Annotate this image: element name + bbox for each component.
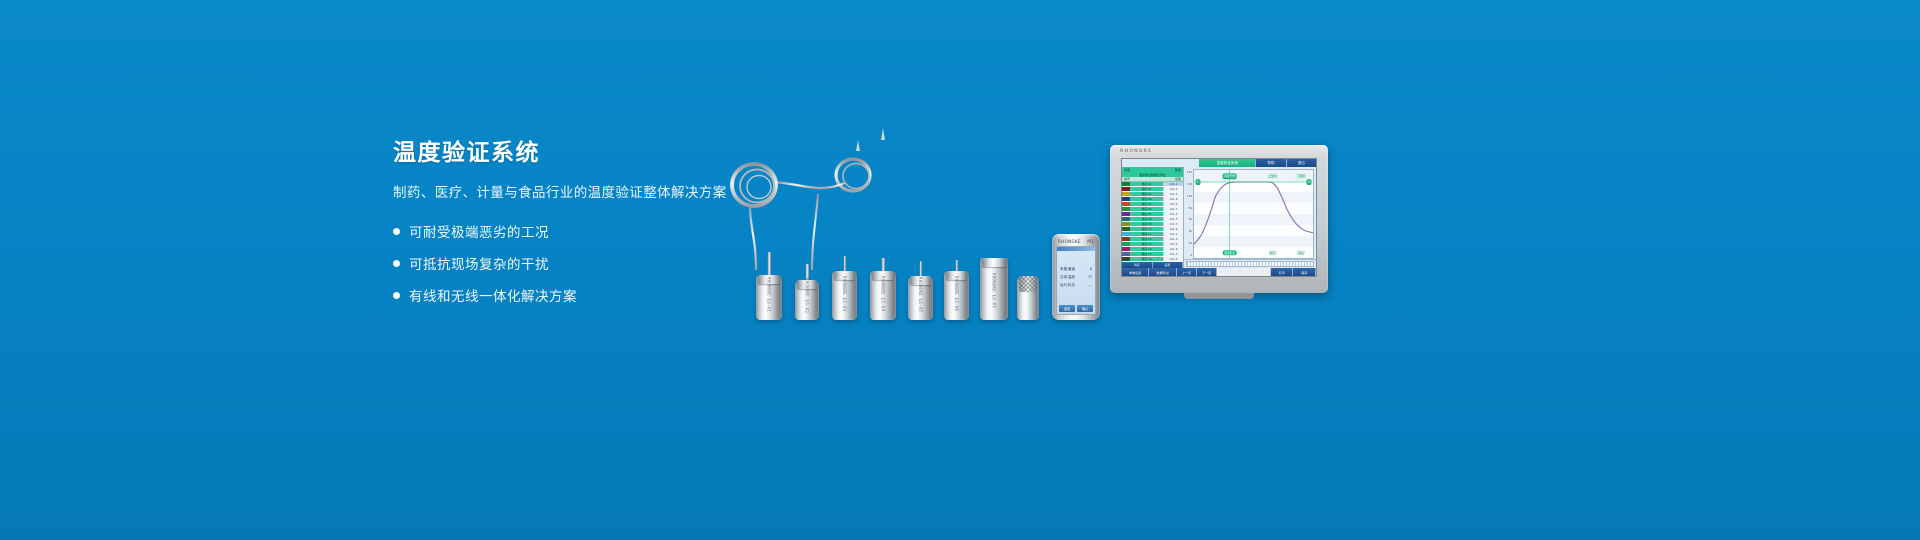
channel-value-cell: 121.6 xyxy=(1163,227,1183,231)
footer-button-3[interactable]: 下一页 xyxy=(1197,268,1217,276)
y-axis-tick: 100 xyxy=(1187,195,1192,198)
channel-color-swatch xyxy=(1122,187,1130,191)
probe-stem xyxy=(768,252,771,276)
col-header-id: 编号 xyxy=(1124,177,1130,181)
channel-value-cell: 121.7 xyxy=(1163,207,1183,211)
feature-label: 有线和无线一体化解决方案 xyxy=(409,285,577,305)
channel-value-cell: 121.6 xyxy=(1163,247,1183,251)
channel-color-swatch xyxy=(1122,202,1130,206)
handheld-buttons: 返回 确认 xyxy=(1057,303,1095,314)
readout-key: 当前温度 xyxy=(1060,275,1075,280)
channel-color-swatch xyxy=(1122,252,1130,256)
data-logger: RHONGKE LG-03 xyxy=(832,272,857,320)
temperature-curve-plot[interactable]: 保温开始 保温结束 A B 上限值 下限值 起点 终点 xyxy=(1193,169,1314,259)
data-logger: RHONGKE LG-05 xyxy=(908,278,933,320)
footer-button-0[interactable]: 参数设置 xyxy=(1122,268,1149,276)
monitor-stand xyxy=(1184,293,1254,299)
logger-cap xyxy=(982,258,1006,267)
y-axis-tick: 80 xyxy=(1189,207,1192,210)
logger-label: RHONGKE LG-04 xyxy=(881,276,886,311)
table-header-left: 通道 xyxy=(1124,168,1130,172)
handheld-reader[interactable]: RHONGKE M1 采集通道 8 当前温度 ℃ xyxy=(1052,234,1100,320)
readout-row: 运行状态 — xyxy=(1060,283,1092,288)
bullet-dot-icon xyxy=(393,292,400,299)
channel-value-cell: 121.3 xyxy=(1163,222,1183,226)
readout-row: 采集通道 8 xyxy=(1060,267,1092,272)
app-tabbar: 温度验证系统 帮助 退出 xyxy=(1122,159,1316,167)
footer-button-5[interactable]: 打印 xyxy=(1271,268,1294,276)
channel-value-cell: 121.2 xyxy=(1163,202,1183,206)
feature-label: 可耐受极端恶劣的工况 xyxy=(409,221,549,241)
channel-color-swatch xyxy=(1122,242,1130,246)
logger-label: RHONGKE LG-06 xyxy=(954,276,959,311)
channel-color-swatch xyxy=(1122,257,1130,261)
chart-scrollbar[interactable] xyxy=(1184,259,1316,268)
tab-temperature-validation[interactable]: 温度验证系统 xyxy=(1199,159,1255,167)
table-body: 通道 01121.4通道 02121.5通道 03121.3通道 04121.6… xyxy=(1122,182,1183,262)
channel-name-cell: 通道 11 xyxy=(1130,232,1163,236)
chart-y-axis: 140120100806040200 xyxy=(1184,169,1193,259)
data-logger: RHONGKE LG-07 xyxy=(980,258,1008,320)
channel-color-swatch xyxy=(1122,212,1130,216)
data-logger-mesh xyxy=(1017,278,1039,320)
data-logger: RHONGKE LG-02 xyxy=(795,282,819,320)
channel-name-cell: 通道 12 xyxy=(1130,237,1163,241)
channel-color-swatch xyxy=(1122,247,1130,251)
footer-spacer xyxy=(1217,268,1271,276)
table-header-right: 数值 xyxy=(1175,168,1181,172)
channel-name-cell: 通道 01 xyxy=(1130,182,1163,186)
monitor-display: RHONGKE 温度验证系统 帮助 退出 通道 数值 xyxy=(1110,145,1328,293)
marker-limit-b[interactable]: B xyxy=(1307,179,1312,185)
brand-label: RHONGKE xyxy=(1058,239,1081,244)
readout-value: — xyxy=(1088,283,1092,287)
probe-stem xyxy=(882,258,885,272)
handheld-brand: RHONGKE M1 xyxy=(1056,239,1096,244)
marker-soak-end[interactable]: 保温结束 xyxy=(1222,250,1237,256)
y-axis-tick: 20 xyxy=(1189,242,1192,245)
footer-button-6[interactable]: 保存 xyxy=(1293,268,1316,276)
logger-label: RHONGKE LG-01 xyxy=(767,277,772,312)
readout-key: 采集通道 xyxy=(1060,267,1075,272)
bullet-dot-icon xyxy=(393,260,400,267)
app-footer-toolbar: 参数设置数据导出上一页下一页打印保存 xyxy=(1122,268,1316,276)
readout-row: 当前温度 ℃ xyxy=(1060,275,1092,280)
channel-name-cell: 通道 03 xyxy=(1130,192,1163,196)
tabbar-spacer xyxy=(1122,159,1199,167)
footer-button-2[interactable]: 上一页 xyxy=(1177,268,1197,276)
channel-color-swatch xyxy=(1122,227,1130,231)
channel-name-cell: 通道 13 xyxy=(1130,242,1163,246)
tab-help[interactable]: 帮助 xyxy=(1255,159,1285,167)
y-axis-tick: 0 xyxy=(1190,254,1192,257)
y-axis-tick: 140 xyxy=(1187,171,1192,174)
marker-soak-start[interactable]: 保温开始 xyxy=(1222,173,1237,179)
marker-end-point[interactable]: 终点 xyxy=(1296,250,1305,256)
tab-exit[interactable]: 退出 xyxy=(1286,159,1316,167)
channel-name-cell: 通道 16 xyxy=(1130,257,1163,261)
marker-upper-limit[interactable]: 上限值 xyxy=(1267,173,1279,179)
hero-banner: 温度验证系统 制药、医疗、计量与食品行业的温度验证整体解决方案 可耐受极端恶劣的… xyxy=(0,0,1920,540)
handheld-screen: 采集通道 8 当前温度 ℃ 运行状态 — 返回 xyxy=(1056,246,1096,315)
channel-value-cell: 121.4 xyxy=(1163,242,1183,246)
channel-color-swatch xyxy=(1122,192,1130,196)
scrollbar-track[interactable] xyxy=(1186,261,1314,267)
chart-panel: 140120100806040200 xyxy=(1184,167,1316,268)
logger-label: RHONGKE LG-07 xyxy=(992,273,997,308)
channel-color-swatch xyxy=(1122,217,1130,221)
handheld-confirm-button[interactable]: 确认 xyxy=(1077,305,1093,312)
logger-label: RHONGKE LG-02 xyxy=(805,278,810,313)
logger-label: RHONGKE LG-05 xyxy=(918,277,923,312)
data-logger: RHONGKE LG-06 xyxy=(944,272,969,320)
readout-value: ℃ xyxy=(1088,275,1092,279)
channel-value-cell: 121.6 xyxy=(1163,197,1183,201)
readout-key: 运行状态 xyxy=(1060,283,1075,288)
channel-name-cell: 通道 06 xyxy=(1130,207,1163,211)
channel-value-cell: 121.5 xyxy=(1163,237,1183,241)
channel-color-swatch xyxy=(1122,222,1130,226)
channel-name-cell: 通道 05 xyxy=(1130,202,1163,206)
channel-name-cell: 通道 07 xyxy=(1130,212,1163,216)
marker-limit-a[interactable]: A xyxy=(1195,179,1200,185)
readout-value: 8 xyxy=(1090,267,1092,271)
channel-name-cell: 通道 09 xyxy=(1130,222,1163,226)
channel-value-cell: 121.5 xyxy=(1163,187,1183,191)
handheld-readout: 采集通道 8 当前温度 ℃ 运行状态 — xyxy=(1057,251,1095,303)
channel-value-cell: 121.4 xyxy=(1163,212,1183,216)
channel-color-swatch xyxy=(1122,197,1130,201)
channel-value-cell: 121.4 xyxy=(1163,182,1183,186)
software-window: 温度验证系统 帮助 退出 通道 数值 温度验证数据记录表 xyxy=(1121,158,1317,277)
chart-main: 140120100806040200 xyxy=(1184,167,1316,259)
marker-start-point[interactable]: 起点 xyxy=(1268,250,1277,256)
channel-name-cell: 通道 14 xyxy=(1130,247,1163,251)
y-axis-tick: 60 xyxy=(1189,218,1192,221)
channel-value-cell: 121.3 xyxy=(1163,252,1183,256)
sensor-mesh-cap xyxy=(1019,276,1037,292)
channel-color-swatch xyxy=(1122,182,1130,186)
channel-name-cell: 通道 15 xyxy=(1130,252,1163,256)
handheld-frame: RHONGKE M1 采集通道 8 当前温度 ℃ xyxy=(1052,234,1100,320)
marker-lower-limit[interactable]: 下限值 xyxy=(1295,173,1307,179)
y-axis-tick: 40 xyxy=(1189,230,1192,233)
channel-name-cell: 通道 08 xyxy=(1130,217,1163,221)
channel-name-cell: 通道 10 xyxy=(1130,227,1163,231)
col-header-reading: 读数 xyxy=(1175,177,1181,181)
channel-color-swatch xyxy=(1122,207,1130,211)
monitor-brand-logo: RHONGKE xyxy=(1120,149,1152,154)
model-label: M1 xyxy=(1087,239,1094,244)
app-body: 通道 数值 温度验证数据记录表 编号 读数 通道 01121.4通道 02121… xyxy=(1122,167,1316,268)
footer-button-1[interactable]: 数据导出 xyxy=(1149,268,1176,276)
probe-stem xyxy=(843,256,846,272)
channel-name-cell: 通道 02 xyxy=(1130,187,1163,191)
chart-svg xyxy=(1194,170,1313,258)
channel-value-cell: 121.2 xyxy=(1163,232,1183,236)
handheld-back-button[interactable]: 返回 xyxy=(1059,305,1075,312)
channel-value-cell: 121.5 xyxy=(1163,217,1183,221)
monitor-bezel: RHONGKE 温度验证系统 帮助 退出 通道 数值 xyxy=(1110,145,1328,293)
logger-label: RHONGKE LG-03 xyxy=(842,276,847,311)
data-logger: RHONGKE LG-01 xyxy=(756,276,782,320)
channel-color-swatch xyxy=(1122,232,1130,236)
channel-value-cell: 121.5 xyxy=(1163,257,1183,261)
channel-table: 通道 数值 温度验证数据记录表 编号 读数 通道 01121.4通道 02121… xyxy=(1122,167,1184,268)
data-logger: RHONGKE LG-04 xyxy=(870,272,896,320)
channel-color-swatch xyxy=(1122,237,1130,241)
product-scene: RHONGKE LG-01 RHONGKE LG-02 RHONGKE LG-0… xyxy=(700,120,1260,320)
channel-value-cell: 121.3 xyxy=(1163,192,1183,196)
y-axis-tick: 120 xyxy=(1187,183,1192,186)
feature-label: 可抵抗现场复杂的干扰 xyxy=(409,253,549,273)
bullet-dot-icon xyxy=(393,228,400,235)
channel-name-cell: 通道 04 xyxy=(1130,197,1163,201)
